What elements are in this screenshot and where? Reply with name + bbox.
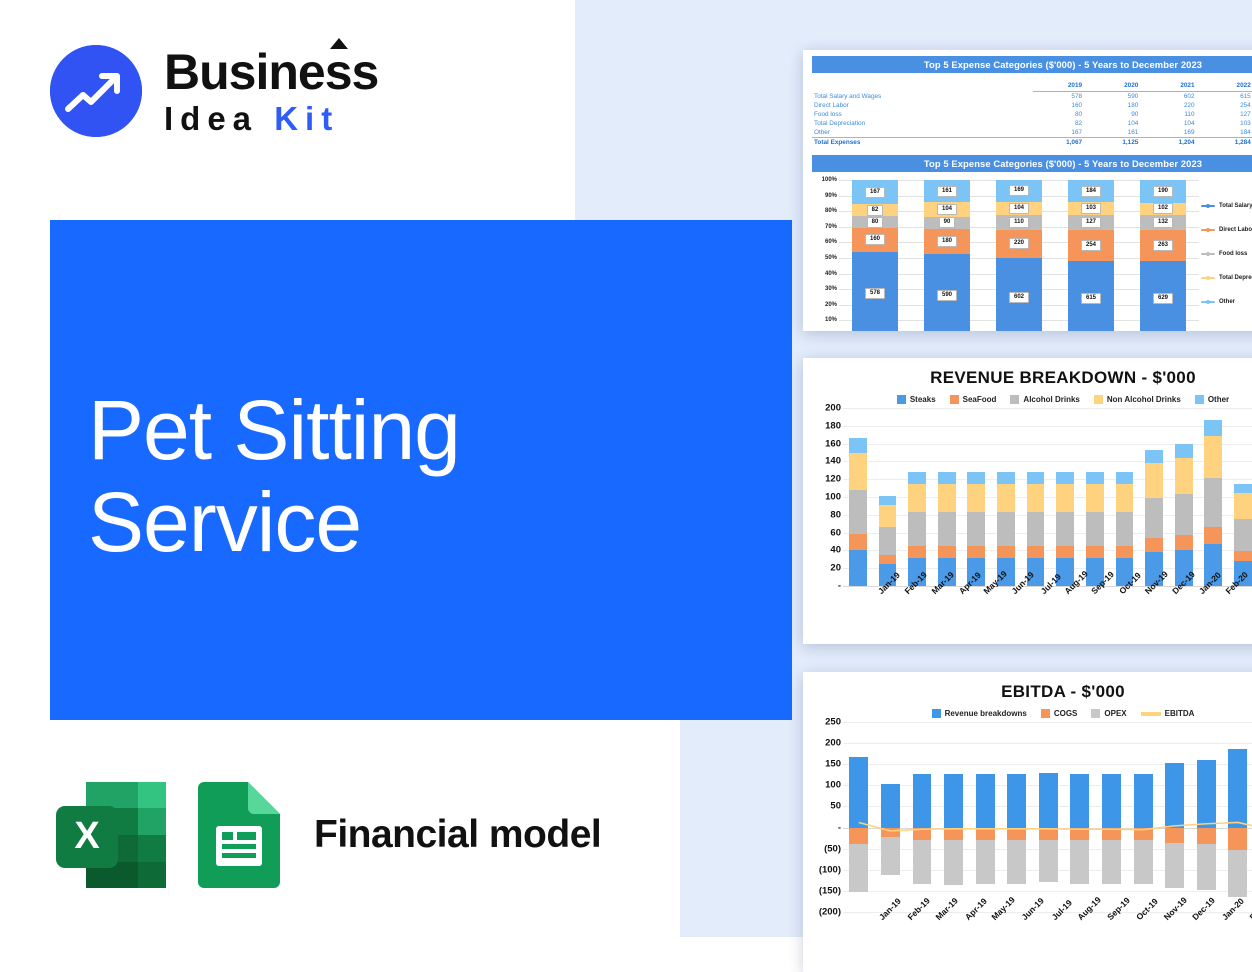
bar-segment xyxy=(1116,512,1134,546)
stacked-bar: 190102132263629 xyxy=(1140,180,1186,331)
table-cell: 90 xyxy=(1089,110,1145,119)
axis-tick-label: 90% xyxy=(809,193,837,199)
expense-categories-card: Top 5 Expense Categories ($'000) - 5 Yea… xyxy=(803,50,1252,331)
table-total-row: Total Expenses1,0671,1251,2041,2841,316 xyxy=(812,138,1252,148)
bar-segment: 615 xyxy=(1068,261,1114,331)
bar-segment: 132 xyxy=(1140,215,1186,231)
bar-column xyxy=(1169,408,1199,586)
axis-tick-label: 10% xyxy=(809,317,837,323)
table-cell: 169 xyxy=(1145,128,1201,138)
legend-swatch xyxy=(1010,395,1019,404)
bar-segment: 167 xyxy=(852,180,898,204)
data-label: 82 xyxy=(867,205,884,216)
data-label: 602 xyxy=(1009,292,1029,303)
table-cell: 104 xyxy=(1145,119,1201,128)
legend-item[interactable]: Steaks xyxy=(897,395,936,404)
page-title-line2: Service xyxy=(88,477,728,569)
table-header-row: 20192020202120222023 xyxy=(812,82,1252,92)
data-label: 190 xyxy=(1153,186,1173,197)
bar-segment xyxy=(908,512,926,546)
x-axis-labels: Jan-19Feb-19Mar-19Apr-19May-19Jun-19Jul-… xyxy=(883,586,1252,626)
bar-column xyxy=(1080,408,1110,586)
bar-segment: 602 xyxy=(996,258,1042,331)
brand-name-secondary: Idea Kit xyxy=(164,102,378,135)
axis-tick-label: 60 xyxy=(830,527,841,538)
bar-segment: 590 xyxy=(924,254,970,331)
bar-segment xyxy=(1056,546,1074,558)
brand-name-primary-text: Business xyxy=(164,44,378,100)
expense-stacked-chart: 0%10%20%30%40%50%60%70%80%90%100%1678280… xyxy=(809,176,1252,331)
table-row-label: Food loss xyxy=(812,110,1033,119)
bar-segment xyxy=(1204,478,1222,527)
axis-tick-label: 20% xyxy=(809,302,837,308)
table-cell: 80 xyxy=(1033,110,1089,119)
bar-segment xyxy=(997,546,1015,558)
bar-segment xyxy=(1175,494,1193,535)
table-cell: 110 xyxy=(1145,110,1201,119)
legend-swatch xyxy=(1201,277,1215,279)
bar-column xyxy=(1050,408,1080,586)
legend-label: Other xyxy=(1219,299,1235,305)
bar-segment xyxy=(1116,472,1134,484)
bar-column xyxy=(843,408,873,586)
bar-segment xyxy=(1027,484,1045,512)
bar-column xyxy=(902,408,932,586)
data-label: 629 xyxy=(1153,293,1173,304)
bar-segment: 102 xyxy=(1140,203,1186,215)
bar-segment xyxy=(908,484,926,512)
data-label: 161 xyxy=(937,186,957,197)
data-label: 90 xyxy=(939,217,956,228)
brand-logo: Business Idea Kit xyxy=(50,45,378,137)
table-cell: 220 xyxy=(1145,101,1201,110)
table-col-header: 2022 xyxy=(1202,82,1252,92)
bar-segment xyxy=(1056,512,1074,546)
data-label: 127 xyxy=(1081,217,1101,228)
bar-segment: 104 xyxy=(924,202,970,216)
legend-swatch xyxy=(1201,229,1215,231)
table-row-label: Direct Labor xyxy=(812,101,1033,110)
legend-label: Other xyxy=(1208,395,1229,404)
bar-segment: 161 xyxy=(924,180,970,202)
chart-legend: Total Salary and WagesDirect LaborFood l… xyxy=(1201,194,1252,314)
bar-segment xyxy=(1175,458,1193,494)
bar-segment: 629 xyxy=(1140,261,1186,331)
bar-segment: 254 xyxy=(1068,230,1114,261)
bar-segment xyxy=(1056,472,1074,484)
data-label: 615 xyxy=(1081,293,1101,304)
table-cell: 1,125 xyxy=(1089,138,1145,148)
legend-label: SeaFood xyxy=(963,395,997,404)
legend-swatch xyxy=(1094,395,1103,404)
table-row: Direct Labor160180220254263 xyxy=(812,101,1252,110)
table-cell: 254 xyxy=(1202,101,1252,110)
axis-tick-label: 20 xyxy=(830,563,841,574)
table-col-header: 2020 xyxy=(1089,82,1145,92)
bar-segment xyxy=(1145,498,1163,538)
data-label: 110 xyxy=(1009,217,1029,228)
legend-label: Total Salary and Wages xyxy=(1219,203,1252,209)
table-cell: 1,067 xyxy=(1033,138,1089,148)
bar-segment xyxy=(1204,436,1222,478)
bar-segment xyxy=(1086,472,1104,484)
table-row: Total Depreciation82104104103102 xyxy=(812,119,1252,128)
data-label: 80 xyxy=(867,217,884,228)
axis-tick-label: 140 xyxy=(825,456,841,467)
axis-tick-label: 60% xyxy=(809,239,837,245)
bar-segment xyxy=(1086,512,1104,546)
ebitda-legend: Revenue breakdownsCOGSOPEXEBITDA xyxy=(803,709,1252,718)
bar-segment xyxy=(1027,546,1045,558)
axis-tick-label: 100% xyxy=(809,177,837,183)
table-cell: 127 xyxy=(1202,110,1252,119)
axis-tick-label: 40% xyxy=(809,271,837,277)
bar-segment: 127 xyxy=(1068,215,1114,230)
axis-tick-label: (200) xyxy=(819,907,841,918)
data-label: 263 xyxy=(1153,240,1173,251)
bar-column xyxy=(1199,408,1229,586)
bar-segment xyxy=(1086,546,1104,558)
bar-segment xyxy=(849,453,867,489)
legend-label: Steaks xyxy=(910,395,936,404)
data-label: 169 xyxy=(1009,185,1029,196)
growth-arrow-chart-icon xyxy=(50,45,142,137)
data-label: 104 xyxy=(937,204,957,215)
axis-tick-label: (50) xyxy=(824,843,841,854)
data-label: 102 xyxy=(1153,203,1173,214)
table-cell: 184 xyxy=(1202,128,1252,138)
legend-item[interactable]: Total Depreciation xyxy=(1201,266,1252,290)
brand-name-kit: Kit xyxy=(274,100,339,137)
bar-segment xyxy=(1234,493,1252,519)
legend-item[interactable]: Direct Labor xyxy=(1201,218,1252,242)
table-cell: 602 xyxy=(1145,92,1201,102)
axis-tick-label: (150) xyxy=(819,885,841,896)
bar-segment xyxy=(908,546,926,558)
legend-item[interactable]: COGS xyxy=(1041,709,1078,718)
financial-model-label: Financial model xyxy=(314,813,601,857)
axis-tick-label: 100 xyxy=(825,780,841,791)
table-cell: 160 xyxy=(1033,101,1089,110)
data-label: 132 xyxy=(1153,217,1173,228)
bar-segment xyxy=(967,546,985,558)
table-cell: 615 xyxy=(1202,92,1252,102)
expense-table: 20192020202120222023 Total Salary and Wa… xyxy=(812,82,1252,147)
data-label: 578 xyxy=(865,288,885,299)
bar-segment xyxy=(967,472,985,484)
microsoft-excel-icon: X xyxy=(48,782,176,888)
bar-segment: 184 xyxy=(1068,180,1114,202)
bar-segment xyxy=(908,472,926,484)
bar-segment xyxy=(1116,546,1134,558)
page-title: Pet Sitting Service xyxy=(88,385,728,568)
legend-label: Non Alcohol Drinks xyxy=(1107,395,1181,404)
bar-segment xyxy=(938,472,956,484)
table-row-label: Other xyxy=(812,128,1033,138)
bar-segment xyxy=(997,484,1015,512)
axis-tick-label: - xyxy=(838,581,841,592)
brand-name-idea: Idea xyxy=(164,100,258,137)
bar-segment xyxy=(879,555,897,564)
bar-segment: 110 xyxy=(996,215,1042,229)
legend-swatch xyxy=(1091,709,1100,718)
legend-swatch xyxy=(1201,253,1215,255)
legend-label: OPEX xyxy=(1104,709,1126,718)
bar-segment: 82 xyxy=(852,204,898,216)
table-cell: 578 xyxy=(1033,92,1089,102)
legend-item[interactable]: Total Salary and Wages xyxy=(1201,194,1252,218)
legend-swatch xyxy=(1201,301,1215,303)
revenue-plot: -20406080100120140160180200Jan-19Feb-19M… xyxy=(803,408,1252,586)
bar-segment xyxy=(1086,484,1104,512)
axis-tick-label: 120 xyxy=(825,474,841,485)
bar-segment xyxy=(1204,527,1222,544)
bar-column xyxy=(991,408,1021,586)
table-cell: 167 xyxy=(1033,128,1089,138)
data-label: 104 xyxy=(1009,203,1029,214)
bar-segment: 103 xyxy=(1068,202,1114,215)
bar-segment xyxy=(1056,484,1074,512)
bar-segment xyxy=(938,546,956,558)
legend-item[interactable]: Revenue breakdowns xyxy=(932,709,1027,718)
bar-segment xyxy=(849,550,867,586)
bar-column xyxy=(1139,408,1169,586)
legend-swatch xyxy=(932,709,941,718)
plot-area: 1678280160578161104901805901691041102206… xyxy=(839,180,1199,331)
bar-segment xyxy=(1234,551,1252,561)
axis-tick-label: 100 xyxy=(825,492,841,503)
legend-item[interactable]: OPEX xyxy=(1091,709,1126,718)
axis-tick-label: 50% xyxy=(809,255,837,261)
bar-segment xyxy=(1234,519,1252,551)
data-label: 180 xyxy=(937,236,957,247)
bar-segment xyxy=(849,438,867,453)
bar-segment xyxy=(1175,444,1193,457)
legend-item[interactable]: Other xyxy=(1195,395,1229,404)
axis-tick-label: 80% xyxy=(809,208,837,214)
data-label: 167 xyxy=(865,187,885,198)
bar-segment xyxy=(1027,472,1045,484)
bar-column xyxy=(932,408,962,586)
legend-label: Revenue breakdowns xyxy=(945,709,1027,718)
legend-label: Direct Labor xyxy=(1219,227,1252,233)
bar-segment: 263 xyxy=(1140,230,1186,261)
table-row: Food loss8090110127132 xyxy=(812,110,1252,119)
bar-segment: 160 xyxy=(852,228,898,251)
bar-segment xyxy=(1145,450,1163,463)
axis-tick-label: 80 xyxy=(830,509,841,520)
svg-text:X: X xyxy=(74,815,100,857)
brand-name-primary: Business xyxy=(164,47,378,97)
axis-tick-label: - xyxy=(838,822,841,833)
legend-label: COGS xyxy=(1054,709,1078,718)
x-axis-labels: Jan-19Feb-19Mar-19Apr-19May-19Jun-19Jul-… xyxy=(883,912,1252,952)
bar-segment xyxy=(1175,535,1193,550)
table-row: Other167161169184190 xyxy=(812,128,1252,138)
legend-swatch xyxy=(1141,712,1161,716)
bar-column xyxy=(873,408,903,586)
bar-group: 1678280160578161104901805901691041102206… xyxy=(839,180,1199,331)
bar-segment: 90 xyxy=(924,217,970,229)
legend-label: Total Depreciation xyxy=(1219,275,1252,281)
legend-item[interactable]: Other xyxy=(1201,290,1252,314)
table-row-label: Total Expenses xyxy=(812,138,1033,148)
table-cell: 1,204 xyxy=(1145,138,1201,148)
bar-segment xyxy=(1145,538,1163,552)
expense-table-title: Top 5 Expense Categories ($'000) - 5 Yea… xyxy=(812,56,1252,73)
ebitda-plot: (200)(150)(100)(50)-50100150200250Jan-19… xyxy=(803,722,1252,912)
bar-segment xyxy=(1027,512,1045,546)
bar-segment xyxy=(1116,484,1134,512)
table-cell: 161 xyxy=(1089,128,1145,138)
table-row: Total Salary and Wages578590602615629 xyxy=(812,92,1252,102)
bar-segment xyxy=(849,490,867,535)
table-col-header: 2021 xyxy=(1145,82,1201,92)
ebitda-card: EBITDA - $'000 Revenue breakdownsCOGSOPE… xyxy=(803,672,1252,972)
bar-segment xyxy=(1145,463,1163,498)
legend-item[interactable]: SeaFood xyxy=(950,395,997,404)
bar-segment xyxy=(967,512,985,546)
stacked-bar: 1678280160578 xyxy=(852,180,898,331)
axis-tick-label: 200 xyxy=(825,403,841,414)
bar-segment: 190 xyxy=(1140,180,1186,203)
bar-segment xyxy=(938,512,956,546)
format-badges: X Financial model xyxy=(48,782,601,888)
table-cell: 180 xyxy=(1089,101,1145,110)
table-row-label: Total Depreciation xyxy=(812,119,1033,128)
revenue-legend: SteaksSeaFoodAlcohol DrinksNon Alcohol D… xyxy=(803,395,1252,404)
legend-swatch xyxy=(1195,395,1204,404)
google-sheets-icon xyxy=(198,782,280,888)
legend-item[interactable]: Non Alcohol Drinks xyxy=(1094,395,1181,404)
data-label: 184 xyxy=(1081,186,1101,197)
legend-swatch xyxy=(1201,205,1215,207)
bar-segment: 220 xyxy=(996,230,1042,258)
bar-segment xyxy=(879,527,897,555)
table-cell: 590 xyxy=(1089,92,1145,102)
axis-tick-label: 180 xyxy=(825,420,841,431)
legend-label: Food loss xyxy=(1219,251,1247,257)
axis-tick-label: 50 xyxy=(830,801,841,812)
bar-segment xyxy=(1204,420,1222,437)
table-cell: 1,284 xyxy=(1202,138,1252,148)
table-cell: 103 xyxy=(1202,119,1252,128)
bar-segment xyxy=(997,472,1015,484)
table-col-header xyxy=(812,82,1033,92)
bar-segment xyxy=(849,534,867,549)
data-label: 254 xyxy=(1081,240,1101,251)
revenue-chart-title: REVENUE BREAKDOWN - $'000 xyxy=(803,368,1252,388)
ebitda-chart-title: EBITDA - $'000 xyxy=(803,682,1252,702)
bar-segment: 169 xyxy=(996,180,1042,202)
bar-segment xyxy=(938,484,956,512)
bar-group xyxy=(843,408,1252,586)
bar-column xyxy=(1110,408,1140,586)
axis-tick-label: 160 xyxy=(825,438,841,449)
bar-segment xyxy=(879,496,897,505)
legend-label: Alcohol Drinks xyxy=(1023,395,1079,404)
legend-item[interactable]: EBITDA xyxy=(1141,709,1195,718)
stacked-bar: 169104110220602 xyxy=(996,180,1042,331)
stacked-bar: 16110490180590 xyxy=(924,180,970,331)
bar-column xyxy=(962,408,992,586)
expense-chart-title: Top 5 Expense Categories ($'000) - 5 Yea… xyxy=(812,155,1252,172)
legend-item[interactable]: Alcohol Drinks xyxy=(1010,395,1079,404)
bar-segment: 180 xyxy=(924,229,970,254)
axis-tick-label: 250 xyxy=(825,717,841,728)
legend-item[interactable]: Food loss xyxy=(1201,242,1252,266)
data-label: 103 xyxy=(1081,203,1101,214)
bar-column xyxy=(1021,408,1051,586)
table-body: Total Salary and Wages578590602615629Dir… xyxy=(812,92,1252,148)
legend-swatch xyxy=(1041,709,1050,718)
bar-segment: 80 xyxy=(852,216,898,228)
axis-tick-label: 150 xyxy=(825,759,841,770)
plot-area: Jan-19Feb-19Mar-19Apr-19May-19Jun-19Jul-… xyxy=(843,408,1252,586)
ebitda-line xyxy=(843,722,1252,912)
table-cell: 104 xyxy=(1089,119,1145,128)
table-row-label: Total Salary and Wages xyxy=(812,92,1033,102)
circumflex-accent-icon xyxy=(330,38,348,49)
bar-segment xyxy=(879,505,897,527)
axis-tick-label: (100) xyxy=(819,864,841,875)
page-title-line1: Pet Sitting xyxy=(88,385,728,477)
bar-segment: 104 xyxy=(996,202,1042,215)
stacked-bar: 184103127254615 xyxy=(1068,180,1114,331)
y-axis: -20406080100120140160180200 xyxy=(807,408,841,586)
axis-tick-label: 200 xyxy=(825,738,841,749)
data-label: 220 xyxy=(1009,238,1029,249)
bar-segment xyxy=(967,484,985,512)
bar-segment: 578 xyxy=(852,252,898,332)
legend-swatch xyxy=(897,395,906,404)
axis-tick-label: 70% xyxy=(809,224,837,230)
revenue-breakdown-card: REVENUE BREAKDOWN - $'000 SteaksSeaFoodA… xyxy=(803,358,1252,644)
legend-swatch xyxy=(950,395,959,404)
bar-segment xyxy=(1234,484,1252,494)
data-label: 160 xyxy=(865,234,885,245)
plot-area: Jan-19Feb-19Mar-19Apr-19May-19Jun-19Jul-… xyxy=(843,722,1252,912)
y-axis: (200)(150)(100)(50)-50100150200250 xyxy=(807,722,841,912)
legend-label: EBITDA xyxy=(1165,709,1195,718)
bar-segment xyxy=(997,512,1015,546)
bar-column xyxy=(1228,408,1252,586)
axis-tick-label: 40 xyxy=(830,545,841,556)
table-col-header: 2019 xyxy=(1033,82,1089,92)
table-cell: 82 xyxy=(1033,119,1089,128)
axis-tick-label: 30% xyxy=(809,286,837,292)
data-label: 590 xyxy=(937,290,957,301)
